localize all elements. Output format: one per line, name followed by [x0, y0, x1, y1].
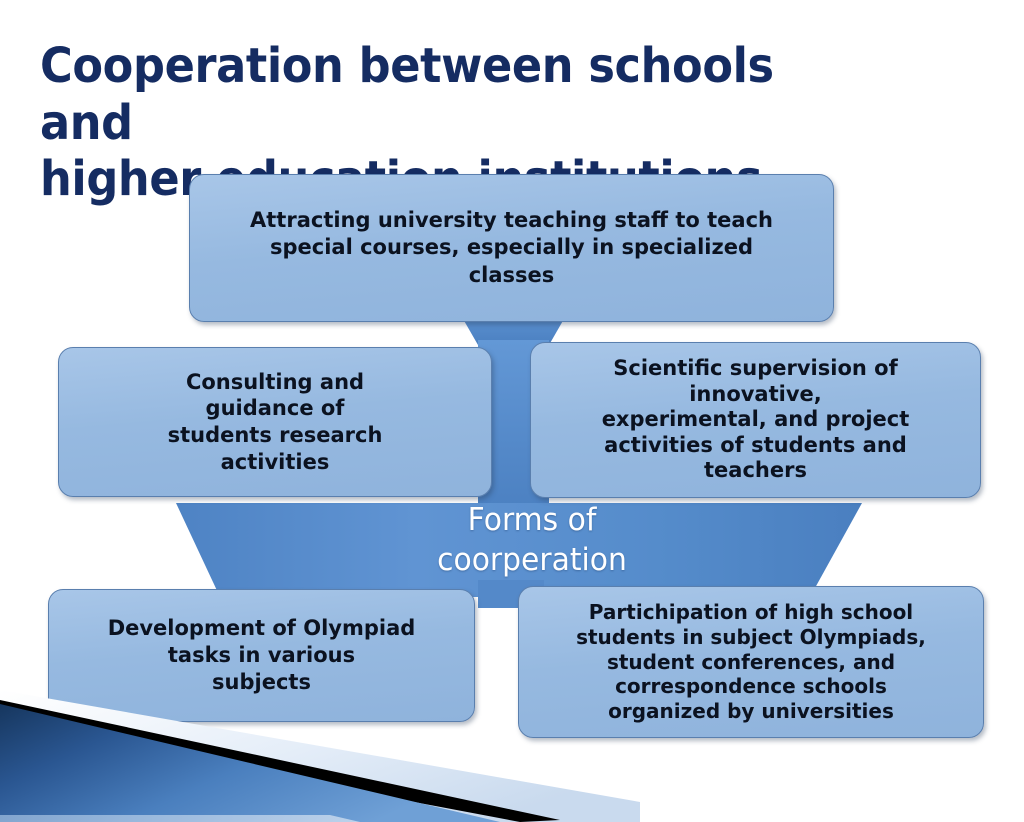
diagram-node-bottom-right[interactable]: Partichipation of high school students i… — [518, 586, 984, 738]
diagram-node-bottom-left[interactable]: Development of Olympiad tasks in various… — [48, 589, 475, 722]
diagram-node-top[interactable]: Attracting university teaching staff to … — [189, 174, 834, 322]
hub-label: Forms of coorperation — [378, 500, 685, 581]
slide-canvas: Cooperation between schools and higher e… — [0, 0, 1024, 822]
diagram-node-right-mid[interactable]: Scientific supervision of innovative, ex… — [530, 342, 981, 498]
diagram-node-left-mid[interactable]: Consulting and guidance of students rese… — [58, 347, 492, 497]
